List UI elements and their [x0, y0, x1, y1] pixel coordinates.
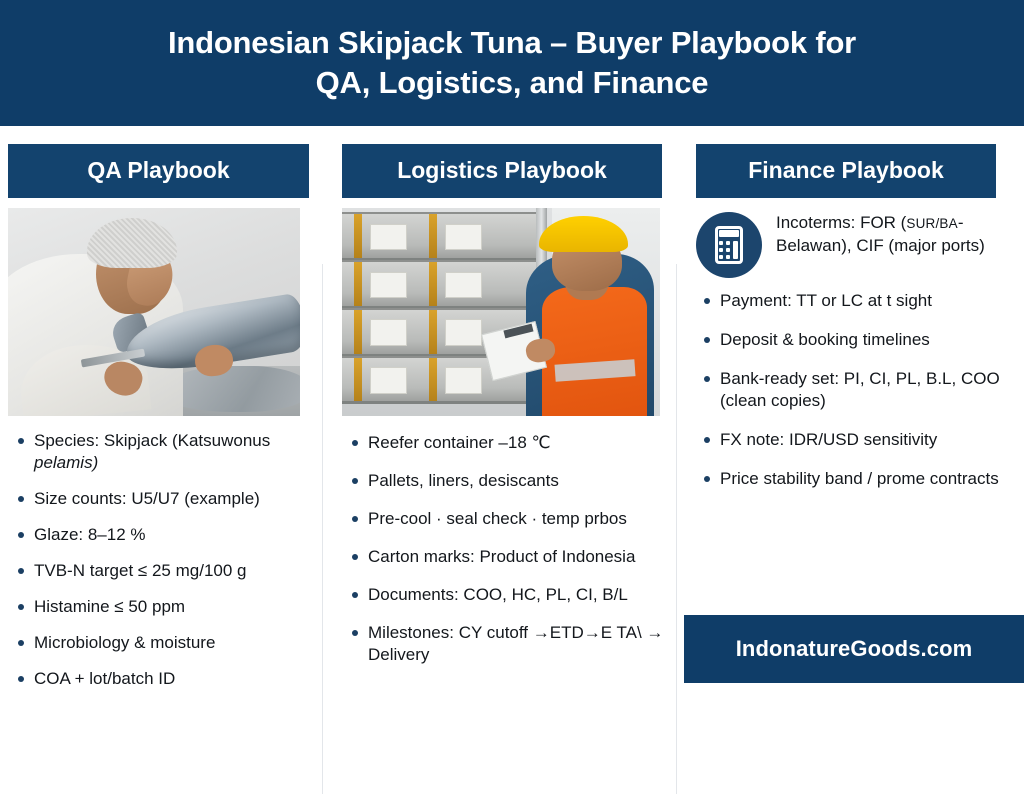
list-item: Payment: TT or LC at t sight — [696, 290, 1006, 312]
photo-pallet-strap — [429, 262, 437, 306]
photo-hi-vis-vest — [542, 287, 647, 416]
bullet-text: Species: Skipjack (Katsuwonus — [34, 431, 270, 450]
incoterms-prefix: Incoterms: FOR ( — [776, 213, 906, 232]
list-item: FX note: IDR/USD sensitivity — [696, 429, 1006, 451]
bullet-list-qa: Species: Skipjack (Katsuwonus pelamis) S… — [10, 430, 304, 690]
photo-logistics-inspection — [342, 208, 660, 416]
incoterms-row: Incoterms: FOR (SUR/BA-Belawan), CIF (ma… — [696, 212, 1004, 278]
photo-carton-label — [445, 272, 482, 298]
column-divider-right — [676, 264, 677, 794]
calculator-keypad — [719, 241, 739, 260]
column-heading-finance: Finance Playbook — [696, 144, 996, 198]
page-header-banner: Indonesian Skipjack Tuna – Buyer Playboo… — [0, 0, 1024, 126]
brand-name: IndonatureGoods.com — [736, 636, 973, 662]
photo-pallet-stack — [342, 208, 539, 416]
photo-carton-label — [370, 224, 407, 250]
column-logistics: Logistics Playbook — [330, 126, 676, 683]
infographic-page: Indonesian Skipjack Tuna – Buyer Playboo… — [0, 0, 1024, 683]
photo-pallet-row — [342, 260, 539, 309]
list-item: Pallets, liners, desiscants — [344, 470, 666, 492]
page-title-line-1: Indonesian Skipjack Tuna – Buyer Playboo… — [168, 25, 856, 60]
column-divider-left — [322, 264, 323, 794]
list-item: Bank-ready set: PI, CI, PL, B.L, COO (cl… — [696, 368, 1006, 412]
photo-pallet-strap — [429, 358, 437, 402]
list-item: Microbiology & moisture — [10, 632, 304, 654]
photo-pallet-strap — [354, 262, 362, 306]
list-item: Glaze: 8–12 % — [10, 524, 304, 546]
photo-carton-label — [445, 367, 482, 393]
list-item: Documents: COO, HC, PL, CI, B/L — [344, 584, 666, 606]
photo-pallet-strap — [429, 310, 437, 354]
photo-carton-label — [370, 367, 407, 393]
column-qa: QA Playbook Species: Skipjack (Katsuwonu… — [0, 126, 322, 683]
photo-carton-label — [445, 224, 482, 250]
column-heading-qa: QA Playbook — [8, 144, 309, 198]
bullet-text-italic: pelamis) — [34, 453, 98, 472]
brand-footer-bar: IndonatureGoods.com — [684, 615, 1024, 683]
list-item: Pre-cool · seal check · temp prbos — [344, 508, 666, 530]
column-finance: Finance Playbook Incoterms: FOR (SUR/BA-… — [684, 126, 1024, 683]
list-item: Reefer container –18 ℃ — [344, 432, 666, 454]
photo-carton-label — [445, 319, 482, 345]
list-item: Species: Skipjack (Katsuwonus pelamis) — [10, 430, 304, 474]
list-item: COA + lot/batch ID — [10, 668, 304, 690]
photo-pallet-strap — [354, 214, 362, 258]
columns-container: QA Playbook Species: Skipjack (Katsuwonu… — [0, 126, 1024, 683]
list-item: Size counts: U5/U7 (example) — [10, 488, 304, 510]
page-title-line-2: QA, Logistics, and Finance — [168, 63, 856, 103]
page-title: Indonesian Skipjack Tuna – Buyer Playboo… — [168, 23, 856, 103]
photo-pallet-strap — [354, 358, 362, 402]
list-item: Price stability band / prome contracts — [696, 468, 1006, 490]
list-item: TVB-N target ≤ 25 mg/100 g — [10, 560, 304, 582]
bullet-list-logistics: Reefer container –18 ℃ Pallets, liners, … — [344, 432, 666, 666]
photo-carton-label — [370, 319, 407, 345]
bullet-list-finance: Payment: TT or LC at t sight Deposit & b… — [696, 290, 1006, 490]
photo-pallet-row — [342, 212, 539, 261]
photo-carton-label — [370, 272, 407, 298]
list-item: Histamine ≤ 50 ppm — [10, 596, 304, 618]
photo-qa-inspection — [8, 208, 300, 416]
photo-pallet-strap — [429, 214, 437, 258]
column-heading-logistics: Logistics Playbook — [342, 144, 662, 198]
calculator-display — [719, 230, 739, 237]
list-item: Milestones: CY cutoff →ETD→E TA\ → Deliv… — [344, 622, 666, 666]
incoterms-text: Incoterms: FOR (SUR/BA-Belawan), CIF (ma… — [776, 212, 1004, 257]
calculator-icon — [696, 212, 762, 278]
list-item: Carton marks: Product of Indonesia — [344, 546, 666, 568]
incoterms-port-codes: SUR/BA — [906, 216, 957, 231]
list-item: Deposit & booking timelines — [696, 329, 1006, 351]
photo-pallet-strap — [354, 310, 362, 354]
